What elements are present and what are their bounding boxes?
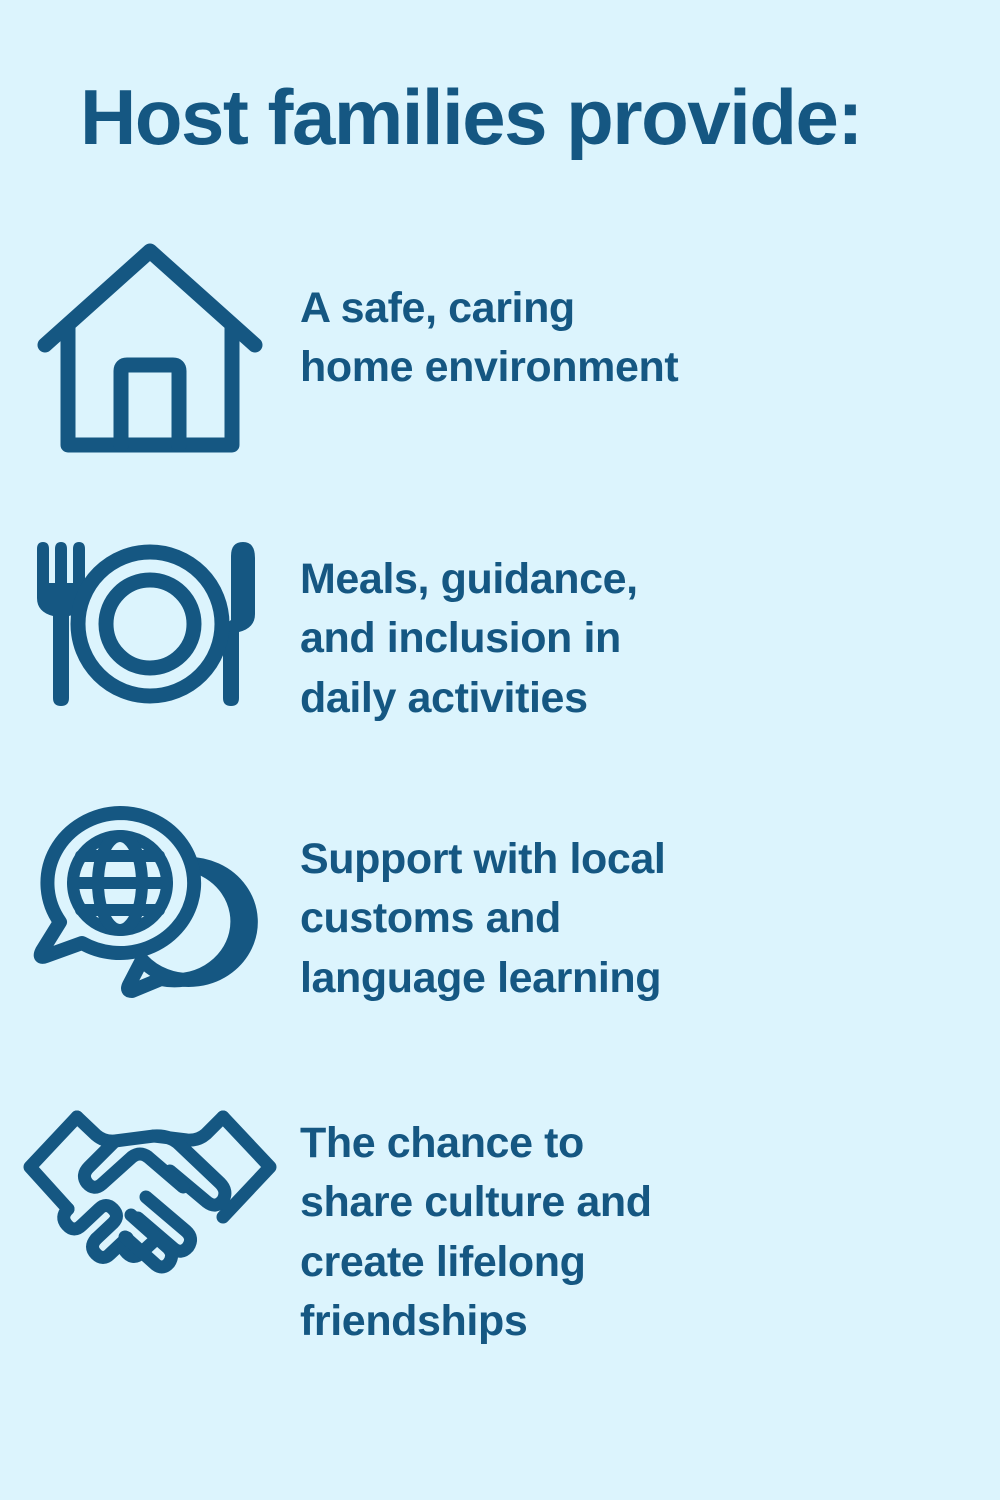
infographic-poster: Host families provide: A safe, caring ho… [0,0,1000,1500]
list-item-line: home environment [300,338,960,397]
list-item-line: and inclusion in [300,609,960,668]
list-item-line: Meals, guidance, [300,550,960,609]
plate-fork-knife-icon [0,522,300,702]
list-item: A safe, caring home environment [0,232,1000,522]
list-item-line: create lifelong [300,1233,960,1292]
list-item-line: language learning [300,949,960,1008]
list-item-line: A safe, caring [300,279,960,338]
list-item-line: Support with local [300,830,960,889]
list-item: Meals, guidance, and inclusion in daily … [0,522,1000,792]
list-item: The chance to share culture and create l… [0,1092,1000,1392]
speech-bubbles-globe-icon [0,792,300,1017]
list-item-line: customs and [300,889,960,948]
house-icon [0,232,300,458]
list-item-text: The chance to share culture and create l… [300,1092,1000,1351]
list-item-line: share culture and [300,1173,960,1232]
list-item-line: friendships [300,1292,960,1351]
list-item-line: The chance to [300,1114,960,1173]
list-item-line: daily activities [300,669,960,728]
page-title: Host families provide: [80,78,940,156]
handshake-icon [0,1092,300,1297]
benefits-list: A safe, caring home environment [0,232,1000,1392]
list-item: Support with local customs and language … [0,792,1000,1092]
list-item-text: A safe, caring home environment [300,232,1000,398]
list-item-text: Meals, guidance, and inclusion in daily … [300,522,1000,728]
list-item-text: Support with local customs and language … [300,792,1000,1008]
